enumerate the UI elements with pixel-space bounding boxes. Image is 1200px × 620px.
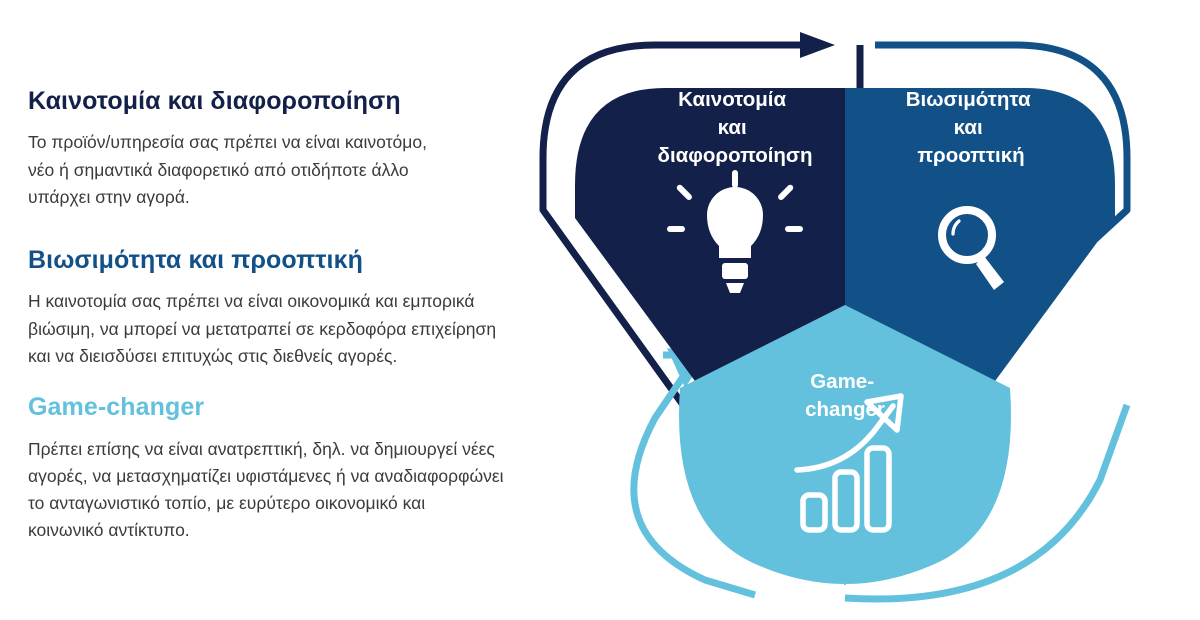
three-petal-cycle-diagram: Καινοτομία και διαφοροποίηση Βιωσιμότητα… (515, 10, 1175, 610)
body-line: Το προϊόν/υπηρεσία σας πρέπει να είναι κ… (28, 129, 588, 156)
petal-label-line: changer (805, 398, 885, 421)
petal-label-line: και (718, 116, 747, 139)
body-line: αγορές, να μετασχηματίζει υφιστάμενες ή … (28, 463, 588, 490)
section-game-changer: Game-changer Πρέπει επίσης να είναι ανατ… (28, 392, 588, 544)
section-heading-innovation: Καινοτομία και διαφοροποίηση (28, 86, 588, 117)
body-line: υπάρχει στην αγορά. (28, 184, 588, 211)
body-line: και να διεισδύσει επιτυχώς στις διεθνείς… (28, 343, 588, 370)
petal-label-line: Game- (810, 370, 874, 393)
section-body-sustainability: Η καινοτομία σας πρέπει να είναι οικονομ… (28, 288, 588, 370)
body-line: Πρέπει επίσης να είναι ανατρεπτική, δηλ.… (28, 436, 588, 463)
section-sustainability: Βιωσιμότητα και προοπτική Η καινοτομία σ… (28, 245, 588, 370)
section-body-game-changer: Πρέπει επίσης να είναι ανατρεπτική, δηλ.… (28, 436, 588, 545)
petal-label-line: προοπτική (917, 144, 1024, 167)
section-heading-game-changer: Game-changer (28, 392, 588, 423)
body-line: το ανταγωνιστικό τοπίο, με ευρύτερο οικο… (28, 490, 588, 517)
petal-label-line: και (954, 116, 983, 139)
section-heading-sustainability: Βιωσιμότητα και προοπτική (28, 245, 588, 276)
petal-label-line: Βιωσιμότητα (906, 88, 1031, 111)
section-innovation: Καινοτομία και διαφοροποίηση Το προϊόν/υ… (28, 86, 588, 211)
body-line: Η καινοτομία σας πρέπει να είναι οικονομ… (28, 288, 588, 315)
petal-label-line: Καινοτομία (678, 88, 786, 111)
body-line: βιώσιμη, να μπορεί να μετατραπεί σε κερδ… (28, 316, 588, 343)
body-line: νέο ή σημαντικά διαφορετικό από οτιδήποτ… (28, 157, 588, 184)
text-column: Καινοτομία και διαφοροποίηση Το προϊόν/υ… (28, 86, 588, 545)
page-root: Καινοτομία και διαφοροποίηση Το προϊόν/υ… (0, 0, 1200, 620)
body-line: κοινωνικό αντίκτυπο. (28, 517, 588, 544)
petal-label-line: διαφοροποίηση (658, 144, 813, 167)
section-body-innovation: Το προϊόν/υπηρεσία σας πρέπει να είναι κ… (28, 129, 588, 211)
